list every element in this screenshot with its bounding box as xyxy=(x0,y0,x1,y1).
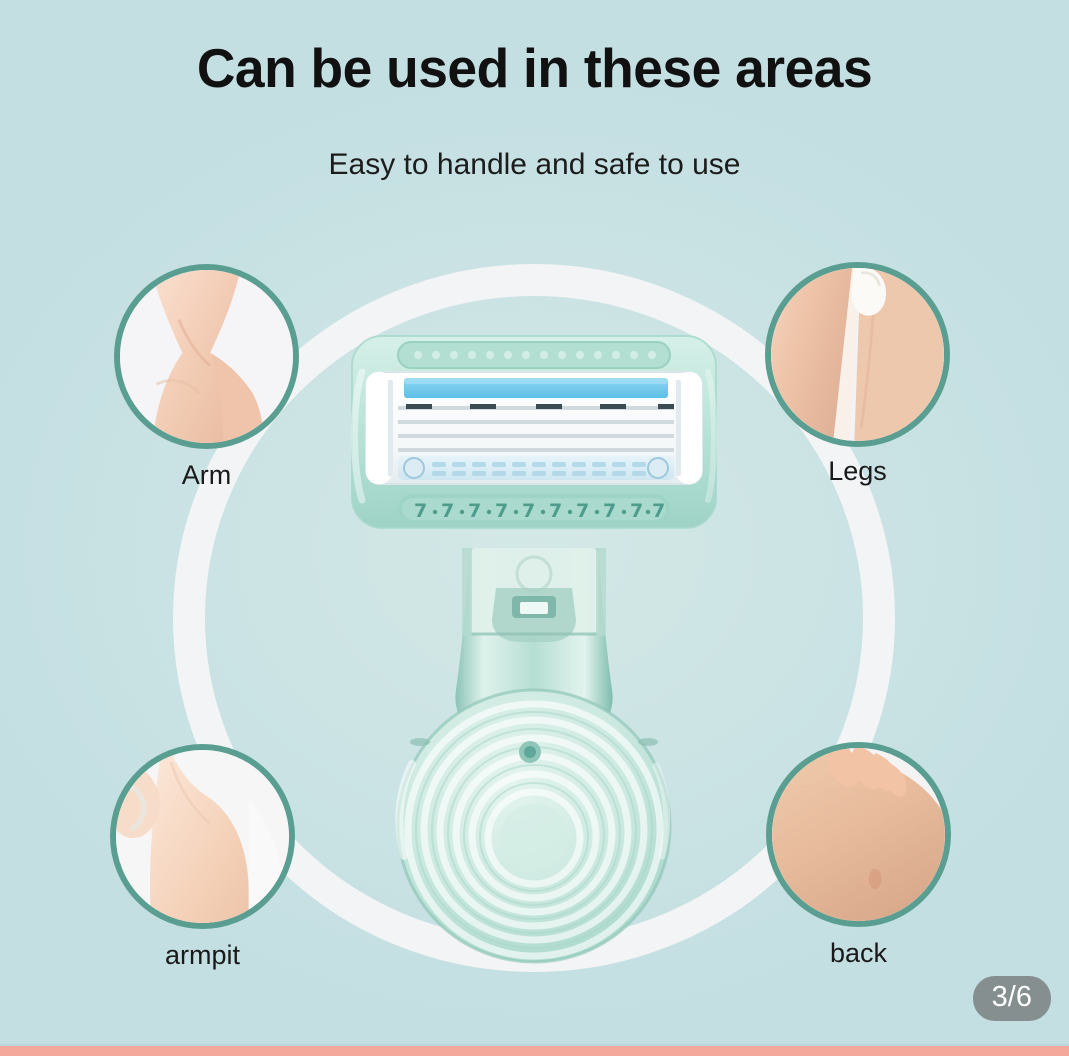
svg-text:7: 7 xyxy=(603,500,616,522)
feature-back-label: back xyxy=(830,938,887,969)
feature-legs-ring xyxy=(765,262,950,447)
svg-text:7: 7 xyxy=(630,500,643,522)
feature-legs[interactable]: Legs xyxy=(765,262,950,447)
svg-text:7: 7 xyxy=(549,500,562,522)
svg-text:7: 7 xyxy=(441,500,454,522)
feature-arm-ring xyxy=(114,264,299,449)
svg-text:7: 7 xyxy=(468,500,481,522)
legs-photo-icon xyxy=(765,262,950,447)
footer-strip xyxy=(0,1046,1069,1056)
page-subtitle: Easy to handle and safe to use xyxy=(0,148,1069,182)
feature-arm[interactable]: Arm xyxy=(114,264,299,449)
feature-armpit[interactable]: armpit xyxy=(110,744,295,929)
page-indicator-badge[interactable]: 3/6 xyxy=(973,976,1051,1021)
arm-photo-icon xyxy=(114,264,299,449)
feature-back-ring xyxy=(766,742,951,927)
back-photo-icon xyxy=(766,742,951,927)
svg-text:7: 7 xyxy=(495,500,508,522)
svg-text:7: 7 xyxy=(652,500,665,522)
slide-canvas: Can be used in these areas Easy to handl… xyxy=(0,0,1069,1056)
svg-text:7: 7 xyxy=(414,500,427,522)
feature-armpit-label: armpit xyxy=(165,940,240,971)
svg-text:7: 7 xyxy=(522,500,535,522)
svg-text:7: 7 xyxy=(576,500,589,522)
page-title: Can be used in these areas xyxy=(16,36,1053,100)
feature-back[interactable]: back xyxy=(766,742,951,927)
armpit-photo-icon xyxy=(110,744,295,929)
feature-legs-label: Legs xyxy=(828,456,887,487)
feature-armpit-ring xyxy=(110,744,295,929)
feature-arm-label: Arm xyxy=(182,460,232,491)
